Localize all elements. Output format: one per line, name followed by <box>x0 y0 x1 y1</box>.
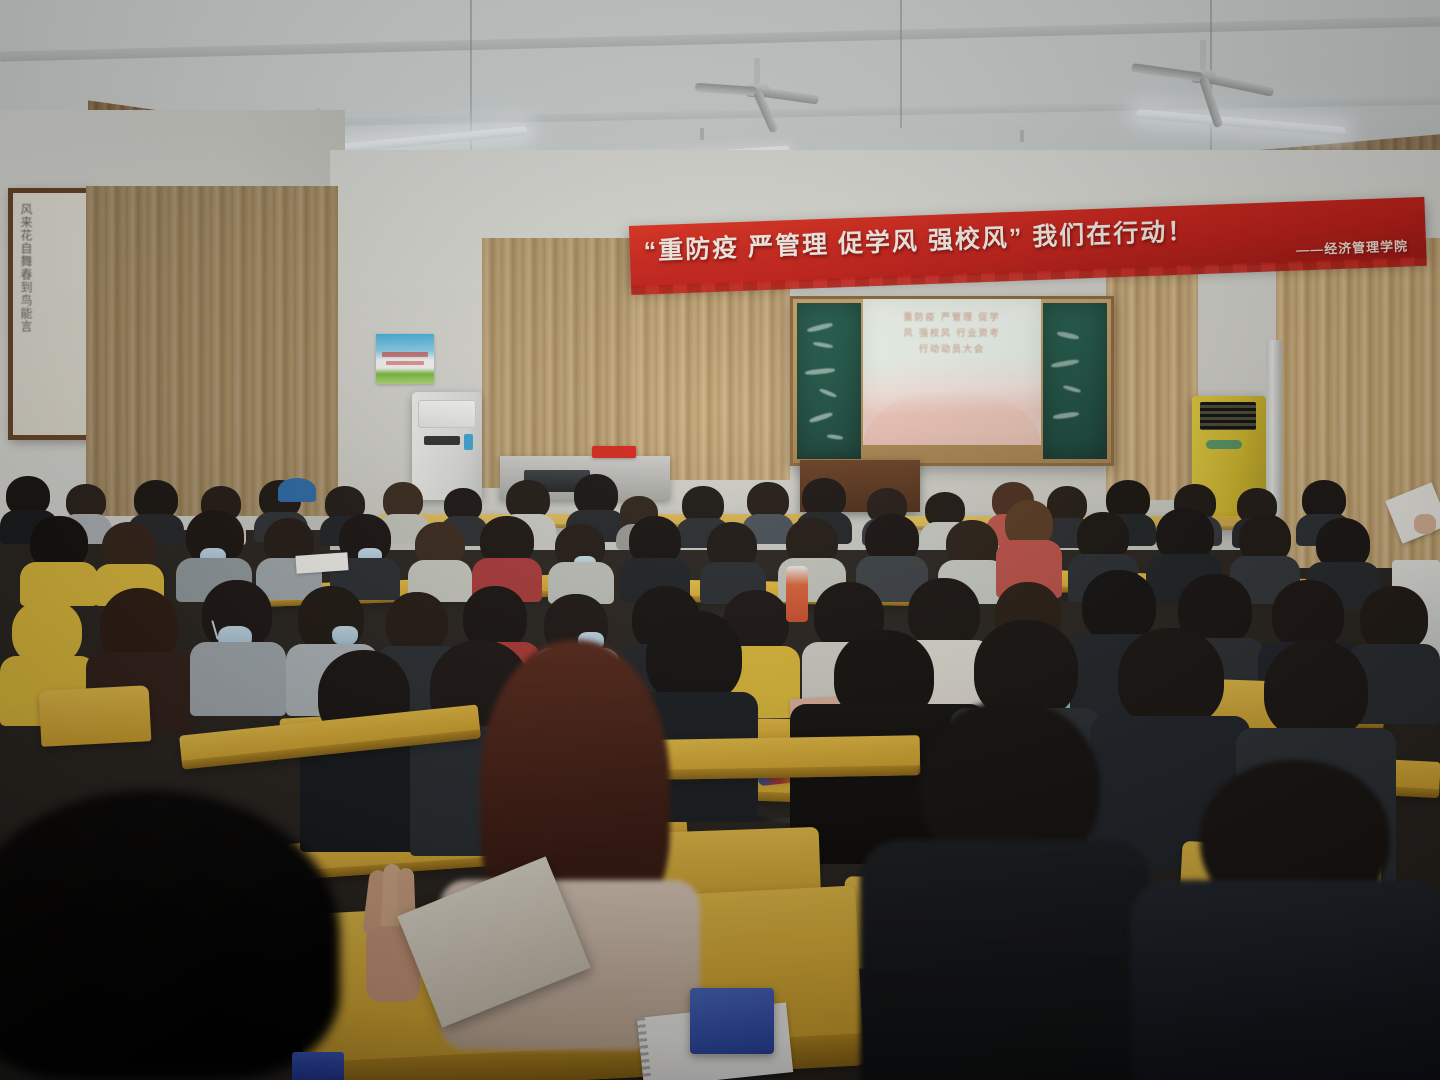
blackboard-frame: 重防疫 严管理 促学 风 强校风 行业资考 行动动员大会 <box>790 296 1114 466</box>
scroll-ink-text: 风来花自舞春到鸟能言 <box>19 203 33 333</box>
banner-sub-text: ——经济管理学院 <box>1296 235 1409 258</box>
slide-line-2: 风 强校风 行业资考 <box>863 327 1041 340</box>
wall-notice-poster <box>376 334 434 384</box>
student-foreground-right <box>1130 760 1440 1080</box>
chalkboard-right <box>1043 303 1107 459</box>
slide-line-1: 重防疫 严管理 促学 <box>863 311 1041 324</box>
curtain-stage-right <box>1106 250 1198 500</box>
student-audience: MALARCUE SIGNAL <box>0 470 1440 1080</box>
ceiling-seam <box>900 0 902 128</box>
ceiling-fan <box>1128 40 1278 136</box>
ceiling-fan <box>694 58 820 138</box>
chair <box>39 685 152 747</box>
classroom-photo: 风来花自舞春到鸟能言 重防疫 严管理 促学 风 强校风 行业资考 行动动 <box>0 0 1440 1080</box>
ceiling-seam <box>470 0 472 150</box>
foreground-head-left <box>0 790 340 1080</box>
slide-line-3: 行动动员大会 <box>863 343 1041 356</box>
student-masked <box>190 580 286 710</box>
student-masked <box>548 524 614 602</box>
drink-bottle <box>786 566 808 622</box>
student-cap <box>276 478 318 508</box>
calligraphy-scroll: 风来花自舞春到鸟能言 <box>8 188 94 440</box>
red-box-prop <box>592 446 636 458</box>
blue-pencil-case <box>690 988 774 1054</box>
projection-screen: 重防疫 严管理 促学 风 强校风 行业资考 行动动员大会 <box>863 299 1041 445</box>
paper-on-desk <box>295 552 348 574</box>
chalkboard-left <box>797 303 861 459</box>
tube-mount <box>1020 130 1024 142</box>
student-foreground-dark <box>860 700 1150 1080</box>
blue-item <box>292 1052 344 1080</box>
curtain-left <box>86 186 338 516</box>
